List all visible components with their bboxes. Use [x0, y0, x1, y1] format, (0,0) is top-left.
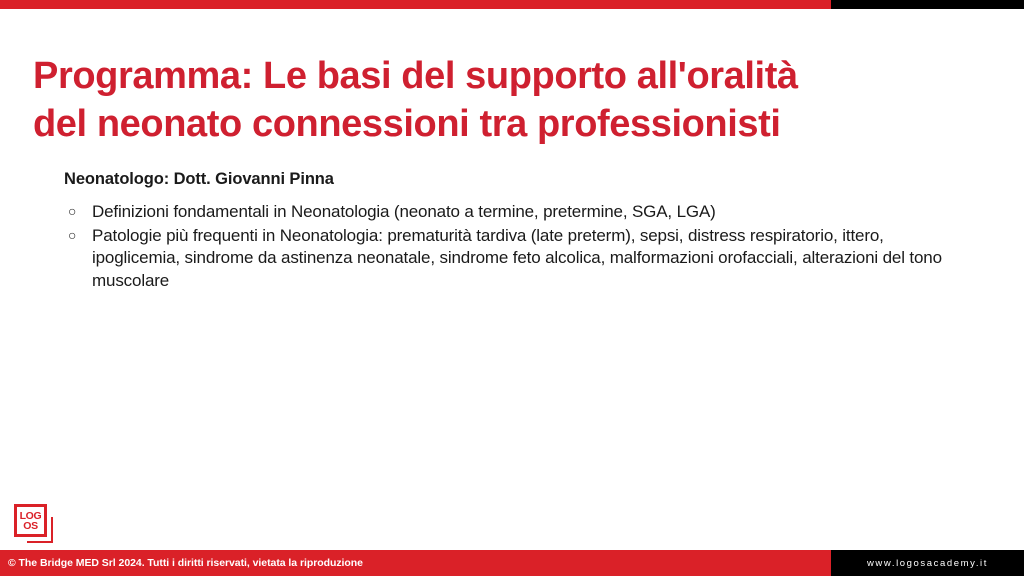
top-accent-bar-black-segment	[831, 0, 1024, 9]
slide-title: Programma: Le basi del supporto all'oral…	[33, 53, 993, 149]
list-item-text: Patologie più frequenti in Neonatologia:…	[92, 226, 942, 290]
speaker-heading: Neonatologo: Dott. Giovanni Pinna	[64, 170, 974, 189]
footer-copyright-text: © The Bridge MED Srl 2024. Tutti i dirit…	[0, 557, 363, 569]
slide: Programma: Le basi del supporto all'oral…	[0, 0, 1024, 576]
logo-text-line-1: LOG	[20, 511, 42, 521]
logo-text-line-2: OS	[23, 521, 38, 531]
list-item: ○ Patologie più frequenti in Neonatologi…	[64, 225, 974, 293]
top-accent-bar-red-segment	[0, 0, 831, 9]
slide-title-line-2: del neonato connessioni tra professionis…	[33, 101, 993, 149]
footer-bar: © The Bridge MED Srl 2024. Tutti i dirit…	[0, 550, 1024, 576]
bullet-list: ○ Definizioni fondamentali in Neonatolog…	[64, 201, 974, 292]
hollow-circle-bullet-icon: ○	[68, 225, 76, 247]
logos-logo: LOG OS	[14, 504, 53, 543]
footer-website-text: www.logosacademy.it	[867, 558, 988, 569]
footer-copyright-band: © The Bridge MED Srl 2024. Tutti i dirit…	[0, 550, 831, 576]
hollow-circle-bullet-icon: ○	[68, 201, 76, 223]
top-accent-bar	[0, 0, 1024, 9]
footer-website-band: www.logosacademy.it	[831, 550, 1024, 576]
slide-title-line-1: Programma: Le basi del supporto all'oral…	[33, 53, 993, 101]
list-item: ○ Definizioni fondamentali in Neonatolog…	[64, 201, 974, 224]
logo-square-icon: LOG OS	[14, 504, 47, 537]
slide-body: Neonatologo: Dott. Giovanni Pinna ○ Defi…	[64, 170, 974, 293]
list-item-text: Definizioni fondamentali in Neonatologia…	[92, 202, 716, 221]
